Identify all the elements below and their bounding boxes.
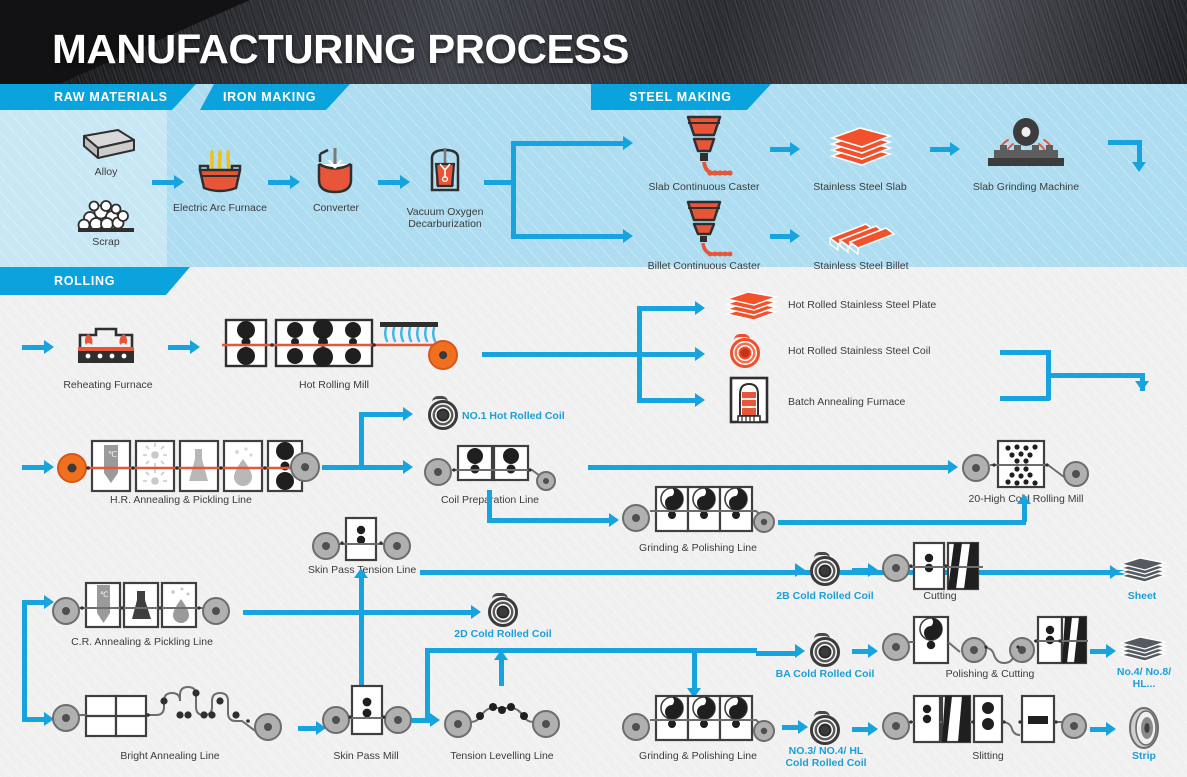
arrow-up-to-tension-tip — [494, 650, 508, 660]
arrow-raw-to-eaf — [152, 180, 174, 185]
arrow-billet-caster-to-billet — [770, 234, 790, 239]
arrow-no3coil-to-slitting — [852, 727, 868, 732]
connector-cutting-to-sheet — [990, 570, 1110, 575]
hot-rolled-coil-icon — [730, 338, 760, 368]
arrow-grinding2-to-no3coil-tip — [798, 720, 808, 734]
connector-to-no1-coil — [359, 412, 403, 417]
ba-cold-rolled-coil-label: BA Cold Rolled Coil — [768, 668, 882, 681]
arrow-slab-to-grinder — [930, 147, 950, 152]
grinding-polishing-line-icon — [622, 485, 772, 537]
arrow-eaf-to-converter-tip — [290, 175, 300, 189]
bright-annealing-line-icon — [52, 678, 290, 740]
arrow-caster-to-slab — [770, 147, 790, 152]
hr-annealing-pickling-line-label: H.R. Annealing & Pickling Line — [110, 494, 250, 507]
tension-levelling-line-icon — [444, 690, 560, 742]
svg-text:℃: ℃ — [100, 590, 109, 599]
connector-grinding1-up — [1022, 504, 1027, 522]
arrow-ba-to-polishing-tip — [868, 644, 878, 658]
connector-hr-split — [359, 412, 364, 470]
arrow-eaf-to-converter — [268, 180, 290, 185]
arrow-into-hr-annealing-tip — [44, 460, 54, 474]
arrow-raw-to-eaf-tip — [174, 175, 184, 189]
connector-coilprep-down — [487, 490, 492, 520]
arrow-polishing-to-no4 — [1090, 649, 1106, 654]
arrow-to-2b-coil-tip — [795, 563, 805, 577]
arrow-grinding2-to-no3coil — [782, 725, 798, 730]
batch-annealing-furnace-icon — [729, 376, 769, 424]
polishing-cutting-label: Polishing & Cutting — [930, 668, 1050, 681]
vod-label-line1: Vacuum Oxygen — [395, 206, 495, 218]
reheating-furnace-icon — [74, 325, 138, 369]
connector-right-bus — [1046, 373, 1144, 378]
connector-to-plate — [637, 306, 695, 311]
alloy-ingot-icon — [74, 128, 138, 164]
connector-to-hr-coil — [637, 352, 695, 357]
arrow-cr-to-2d-tip — [471, 605, 481, 619]
section-tab-iron-making-label: IRON MAKING — [223, 90, 316, 104]
arrow-to-coil-prep-tip — [403, 460, 413, 474]
connector-hotmill-out — [482, 352, 640, 357]
cutting-label: Cutting — [900, 590, 980, 603]
section-tab-rolling-label: ROLLING — [54, 274, 115, 288]
connector-down-to-grinding2 — [692, 648, 697, 690]
no3-no4-hl-label-line2: Cold Rolled Coil — [770, 757, 882, 770]
strip-coil-icon — [1126, 706, 1162, 750]
arrow-polishing-to-no4-tip — [1106, 644, 1116, 658]
stainless-steel-billet-label: Stainless Steel Billet — [802, 260, 920, 273]
bright-annealing-line-label: Bright Annealing Line — [100, 750, 240, 763]
arrow-into-hr-annealing — [22, 465, 44, 470]
grinding-polishing-line-label-2: Grinding & Polishing Line — [630, 750, 766, 763]
ba-cold-rolled-coil-icon — [810, 637, 840, 667]
section-tab-rolling[interactable]: ROLLING — [0, 267, 190, 295]
batch-annealing-furnace-label: Batch Annealing Furnace — [788, 396, 905, 409]
arrow-bright-to-skinpassmill — [298, 726, 316, 731]
connector-vod-split — [511, 141, 516, 239]
electric-arc-furnace-icon — [188, 150, 252, 196]
section-tab-raw-materials-label: RAW MATERIALS — [54, 90, 168, 104]
vod-label-line2: Decarburization — [395, 218, 495, 230]
hot-rolling-mill-label: Hot Rolling Mill — [282, 379, 386, 392]
no3-no4-hl-label-line1: NO.3/ NO.4/ HL — [770, 745, 882, 758]
2d-cold-rolled-coil-icon — [488, 597, 518, 627]
connector-to-grinding1 — [487, 518, 609, 523]
arrow-ba-to-polishing — [852, 649, 868, 654]
connector-to-ba-coil — [756, 651, 798, 656]
arrow-to-tension-levelling-tip — [430, 713, 440, 727]
sheet-label: Sheet — [1112, 590, 1172, 603]
hot-rolled-plate-icon — [724, 290, 780, 324]
billet-continuous-caster-icon — [672, 200, 736, 260]
connector-skinpass-feed-up — [359, 578, 364, 700]
connector-left-to-bright — [22, 717, 44, 722]
arrow-right-down-tip — [1135, 381, 1149, 391]
arrow-reheating-to-hotmill-tip — [190, 340, 200, 354]
hot-rolled-plate-label: Hot Rolled Stainless Steel Plate — [788, 299, 936, 312]
arrow-slab-to-grinder-tip — [950, 142, 960, 156]
connector-hrcoil-right — [1000, 350, 1050, 355]
connector-left-riser — [22, 600, 27, 720]
cr-annealing-pickling-line-icon: ℃ — [52, 583, 230, 631]
connector-baf-right — [1000, 396, 1050, 401]
connector-grinder-down — [1137, 140, 1142, 162]
no1-hot-rolled-coil-label: NO.1 Hot Rolled Coil — [462, 410, 565, 423]
no4-no8-hl-sheet-stack-icon — [1118, 634, 1168, 664]
arrow-to-no1-coil-tip — [403, 407, 413, 421]
hot-rolling-mill-icon — [222, 316, 446, 372]
connector-cr-to-2d — [243, 610, 471, 615]
section-tab-iron-making[interactable]: IRON MAKING — [200, 84, 350, 110]
skin-pass-mill-icon — [322, 686, 412, 742]
slab-continuous-caster-label: Slab Continuous Caster — [644, 181, 764, 194]
scrap-label: Scrap — [56, 236, 156, 249]
converter-label: Converter — [293, 202, 379, 215]
hot-rolled-coil-label: Hot Rolled Stainless Steel Coil — [788, 345, 930, 358]
scrap-pile-icon — [70, 196, 142, 236]
connector-left-to-cr — [22, 600, 44, 605]
arrow-no3coil-to-slitting-tip — [868, 722, 878, 736]
connector-coilprep-to-20high — [588, 465, 948, 470]
slitting-label: Slitting — [940, 750, 1036, 763]
connector-to-billet-caster — [511, 234, 623, 239]
electric-arc-furnace-label: Electric Arc Furnace — [160, 202, 280, 215]
arrow-grinding1-up-tip — [1017, 494, 1031, 504]
no4-no8-hl-label-line1: No.4/ No.8/ — [1098, 666, 1187, 679]
cold-rolling-mill-icon — [962, 440, 1092, 490]
reheating-furnace-label: Reheating Furnace — [56, 379, 160, 392]
arrow-to-grinding1-tip — [609, 513, 619, 527]
arrow-caster-to-slab-tip — [790, 142, 800, 156]
stainless-steel-slab-label: Stainless Steel Slab — [800, 181, 920, 194]
arrow-to-slab-caster-tip — [623, 136, 633, 150]
page-title: MANUFACTURING PROCESS — [52, 26, 629, 73]
arrow-converter-to-vod-tip — [400, 175, 410, 189]
svg-text:℃: ℃ — [108, 450, 117, 459]
stainless-steel-slab-icon — [826, 124, 896, 172]
converter-icon — [312, 146, 358, 198]
alloy-label: Alloy — [56, 166, 156, 179]
arrow-to-baf-tip — [695, 393, 705, 407]
arrow-grinder-down-tip — [1132, 162, 1146, 172]
slitting-icon — [882, 696, 1086, 748]
arrow-coilprep-to-20high-tip — [948, 460, 958, 474]
arrow-slitting-to-strip-tip — [1106, 722, 1116, 736]
arrow-converter-to-vod — [378, 180, 400, 185]
hr-annealing-exit-roller — [290, 452, 320, 482]
arrow-slitting-to-strip — [1090, 727, 1106, 732]
tension-levelling-line-label: Tension Levelling Line — [446, 750, 558, 763]
arrow-into-reheating-tip — [44, 340, 54, 354]
connector-up-to-tension — [499, 658, 504, 686]
connector-to-2b-coil — [762, 570, 796, 575]
connector-to-coil-prep — [359, 465, 403, 470]
skin-pass-tension-line-icon — [312, 518, 412, 566]
arrow-billet-caster-to-billet-tip — [790, 229, 800, 243]
strip-label: Strip — [1112, 750, 1176, 763]
arrow-2b-to-cutting-tip — [868, 563, 878, 577]
no1-hot-rolled-coil-icon — [428, 400, 458, 430]
sheet-stack-icon — [1118, 555, 1168, 585]
skin-pass-mill-label: Skin Pass Mill — [318, 750, 414, 763]
coil-preparation-line-icon — [424, 444, 556, 490]
cutting-icon — [882, 543, 982, 591]
stainless-steel-billet-icon — [826, 218, 898, 254]
section-tab-steel-making[interactable]: STEEL MAKING — [591, 84, 771, 110]
hr-annealing-pickling-line-icon: ℃ — [58, 437, 298, 497]
no3-no4-hl-cold-rolled-coil-icon — [810, 715, 840, 745]
connector-grinding1-right — [778, 520, 1026, 525]
arrow-2b-to-cutting — [852, 568, 868, 573]
arrow-skinpass-feed-up-tip — [354, 568, 368, 578]
connector-to-slab-caster — [511, 141, 623, 146]
billet-continuous-caster-label: Billet Continuous Caster — [642, 260, 766, 273]
section-tab-raw-materials[interactable]: RAW MATERIALS — [0, 84, 196, 110]
hot-rolling-mill-exit-roller — [428, 340, 458, 370]
connector-tension-top — [425, 648, 757, 653]
2b-cold-rolled-coil-label: 2B Cold Rolled Coil — [768, 590, 882, 603]
arrow-to-plate-tip — [695, 301, 705, 315]
section-tab-steel-making-label: STEEL MAKING — [629, 90, 732, 104]
2b-cold-rolled-coil-icon — [810, 556, 840, 586]
arrow-reheating-to-hotmill — [168, 345, 190, 350]
connector-tension-riser — [425, 648, 430, 723]
polishing-cutting-icon — [882, 617, 1086, 669]
slab-grinding-machine-icon — [972, 118, 1080, 170]
2d-cold-rolled-coil-label: 2D Cold Rolled Coil — [443, 628, 563, 641]
cr-annealing-pickling-line-label: C.R. Annealing & Pickling Line — [62, 636, 222, 649]
grinding-polishing-line-icon-2 — [622, 694, 772, 746]
grinding-polishing-line-label-1: Grinding & Polishing Line — [630, 542, 766, 555]
no4-no8-hl-label-line2: HL... — [1098, 678, 1187, 691]
connector-hr-out — [322, 465, 362, 470]
arrow-into-reheating — [22, 345, 44, 350]
slab-continuous-caster-icon — [672, 113, 736, 181]
vod-vessel-icon — [422, 146, 468, 198]
connector-to-baf — [637, 398, 695, 403]
slab-grinding-machine-label: Slab Grinding Machine — [966, 181, 1086, 194]
arrow-to-hr-coil-tip — [695, 347, 705, 361]
arrow-to-billet-caster-tip — [623, 229, 633, 243]
